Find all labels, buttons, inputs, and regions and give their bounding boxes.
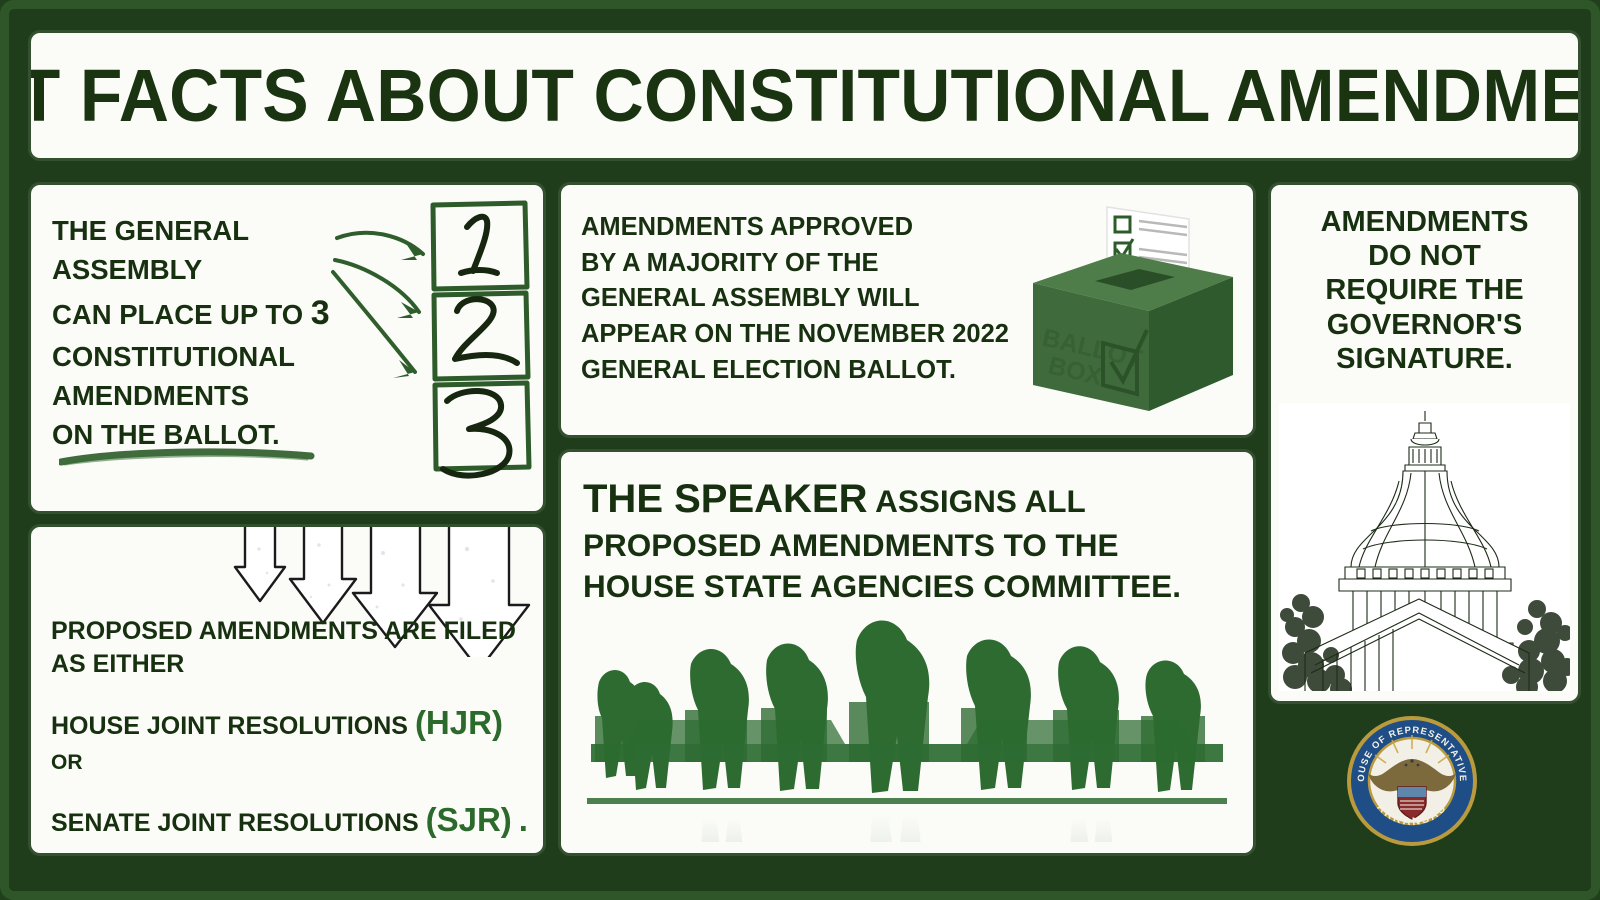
filed-line-4: SENATE JOINT RESOLUTIONS (SJR) . xyxy=(51,799,531,842)
assembly-line-5: ON THE BALLOT. xyxy=(52,419,280,450)
governor-line-2: DO NOT xyxy=(1368,240,1481,272)
panel-general-assembly: THE GENERAL ASSEMBLY CAN PLACE UP TO 3 C… xyxy=(31,185,543,511)
filed-text-block: PROPOSED AMENDMENTS ARE FILED AS EITHER … xyxy=(51,615,531,842)
ballot-line-2: BY A MAJORITY OF THE xyxy=(581,249,879,277)
committee-silhouette-illustration xyxy=(581,612,1233,842)
filed-line-3: HOUSE JOINT RESOLUTIONS (HJR) OR xyxy=(51,702,531,777)
ballot-text-block: AMENDMENTS APPROVED BY A MAJORITY OF THE… xyxy=(581,210,1036,388)
filed-sjr-abbr: (SJR) xyxy=(426,801,512,838)
ballot-line-1: AMENDMENTS APPROVED xyxy=(581,213,913,241)
speaker-lead: THE SPEAKER xyxy=(583,477,868,521)
speaker-line-3: HOUSE STATE AGENCIES COMMITTEE. xyxy=(583,568,1181,604)
panel-filed-as: PROPOSED AMENDMENTS ARE FILED AS EITHER … xyxy=(31,527,543,853)
assembly-line-1: THE GENERAL ASSEMBLY xyxy=(52,215,249,285)
filed-hjr-abbr: (HJR) xyxy=(415,704,503,741)
filed-sjr-label: SENATE JOINT RESOLUTIONS xyxy=(51,809,419,837)
filed-hjr-label: HOUSE JOINT RESOLUTIONS xyxy=(51,712,408,740)
silhouette-reflection xyxy=(591,815,1223,842)
assembly-text-block: THE GENERAL ASSEMBLY CAN PLACE UP TO 3 C… xyxy=(52,211,352,455)
page-title: FAST FACTS ABOUT CONSTITUTIONAL AMENDMEN… xyxy=(31,53,1578,138)
filed-line-1: PROPOSED AMENDMENTS xyxy=(51,617,378,645)
speaker-line-2: PROPOSED AMENDMENTS TO THE xyxy=(583,527,1119,563)
governor-text-block: AMENDMENTS DO NOT REQUIRE THE GOVERNOR'S… xyxy=(1279,205,1570,376)
assembly-line-4: AMENDMENTS xyxy=(52,380,249,411)
governor-line-3: REQUIRE THE xyxy=(1325,274,1523,306)
panel-ballot-approval: AMENDMENTS APPROVED BY A MAJORITY OF THE… xyxy=(561,185,1253,435)
assembly-count-number: 3 xyxy=(311,294,330,332)
governor-line-4: GOVERNOR'S xyxy=(1327,309,1522,341)
handdrawn-arrows-group xyxy=(331,220,441,420)
ballot-line-4: APPEAR ON THE NOVEMBER 2022 xyxy=(581,320,1009,348)
assembly-line-3: CONSTITUTIONAL xyxy=(52,341,295,372)
speaker-text-block: THE SPEAKER ASSIGNS ALL PROPOSED AMENDME… xyxy=(583,474,1223,606)
assembly-line-2: CAN PLACE UP TO xyxy=(52,299,303,330)
speaker-rest-line-1: ASSIGNS ALL xyxy=(875,483,1086,519)
governor-line-5: SIGNATURE. xyxy=(1336,343,1513,375)
ballot-box-illustration: BALLOT BOX xyxy=(1011,195,1251,425)
panel-governor-signature: AMENDMENTS DO NOT REQUIRE THE GOVERNOR'S… xyxy=(1271,185,1578,701)
handdrawn-underline xyxy=(59,447,315,467)
panel-speaker-assignment: THE SPEAKER ASSIGNS ALL PROPOSED AMENDME… xyxy=(561,452,1253,853)
ballot-line-3: GENERAL ASSEMBLY WILL xyxy=(581,284,920,312)
filed-period: . xyxy=(519,801,528,838)
filed-or: OR xyxy=(51,751,83,774)
governor-line-1: AMENDMENTS xyxy=(1321,206,1529,238)
state-capitol-illustration xyxy=(1279,403,1570,691)
title-panel: FAST FACTS ABOUT CONSTITUTIONAL AMENDMEN… xyxy=(31,33,1578,158)
infographic-root: FAST FACTS ABOUT CONSTITUTIONAL AMENDMEN… xyxy=(0,0,1600,900)
arkansas-house-seal: HOUSE OF REPRESENTATIVES ARKANSAS xyxy=(1346,715,1478,847)
silhouette-people xyxy=(587,621,1227,805)
ballot-line-5: GENERAL ELECTION BALLOT. xyxy=(581,356,956,384)
